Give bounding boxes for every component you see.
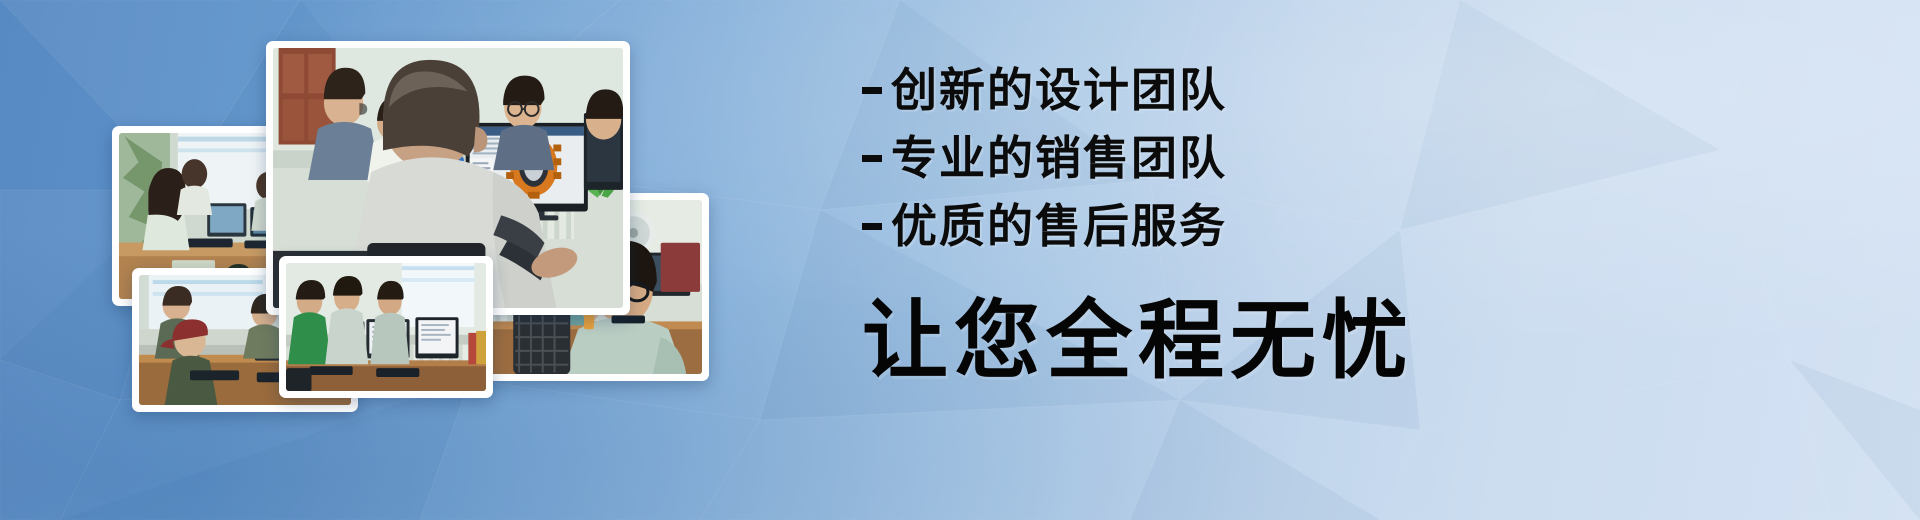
- marketing-copy: 创新的设计团队 专业的销售团队 优质的售后服务 让您全程无忧: [862, 56, 1562, 456]
- photo-team-green-shirts: [279, 256, 493, 398]
- photo-collage: [0, 0, 760, 520]
- photo-team-green-shirts-image: [286, 263, 486, 391]
- bullet-text-1: 创新的设计团队: [891, 67, 1227, 113]
- bullet-dash-icon: [862, 223, 882, 230]
- bullet-text-3: 优质的售后服务: [891, 203, 1227, 249]
- promo-banner: 创新的设计团队 专业的销售团队 优质的售后服务 让您全程无忧: [0, 0, 1920, 520]
- bullet-item-3: 优质的售后服务: [862, 192, 1562, 260]
- bullet-item-2: 专业的销售团队: [862, 124, 1562, 192]
- bullet-dash-icon: [862, 155, 882, 162]
- bullet-text-2: 专业的销售团队: [891, 135, 1227, 181]
- bullet-item-1: 创新的设计团队: [862, 56, 1562, 124]
- headline: 让您全程无忧: [862, 298, 1562, 384]
- bullet-dash-icon: [862, 87, 882, 94]
